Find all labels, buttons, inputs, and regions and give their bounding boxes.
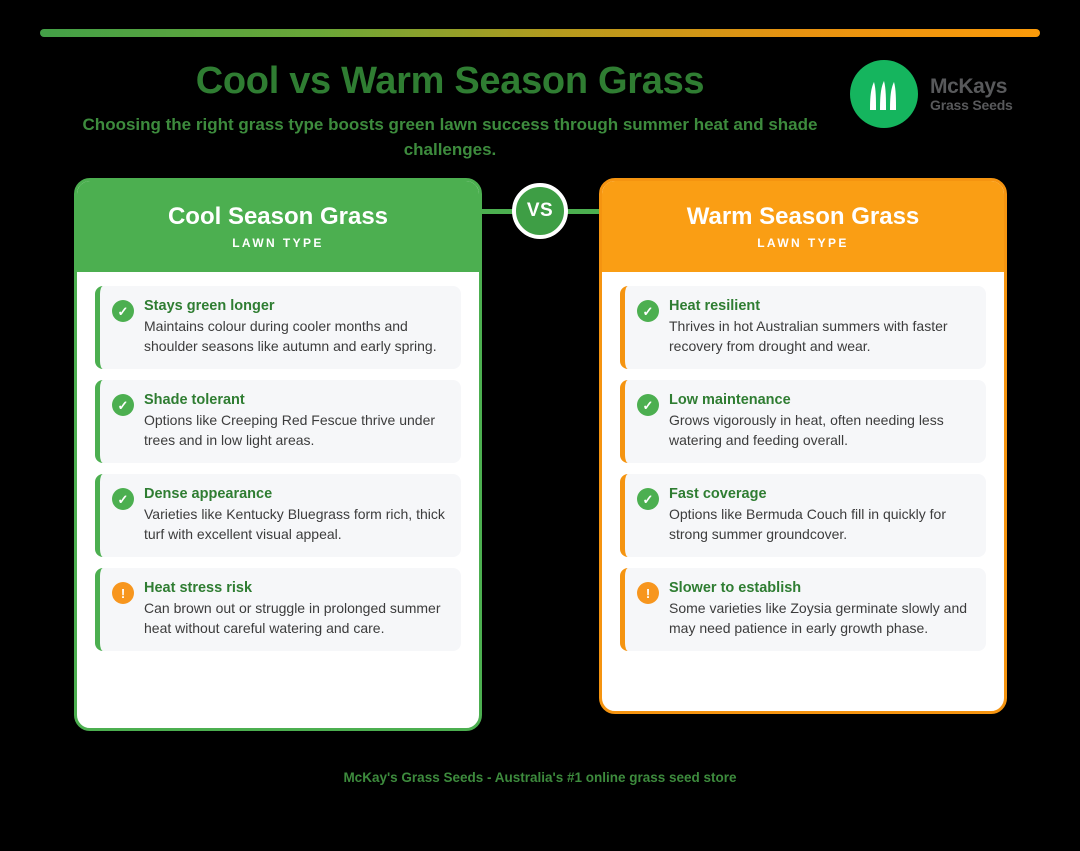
list-item-description: Grows vigorously in heat, often needing … xyxy=(669,410,972,450)
check-icon: ✓ xyxy=(637,488,659,510)
check-icon: ✓ xyxy=(112,300,134,322)
list-item-description: Varieties like Kentucky Bluegrass form r… xyxy=(144,504,447,544)
list-item-text: Low maintenance Grows vigorously in heat… xyxy=(669,392,972,450)
brand-logo: McKays Grass Seeds xyxy=(850,60,1013,128)
list-item: ✓ Fast coverage Options like Bermuda Cou… xyxy=(620,474,986,557)
check-icon: ✓ xyxy=(637,394,659,416)
list-item-description: Can brown out or struggle in prolonged s… xyxy=(144,598,447,638)
check-icon: ✓ xyxy=(112,394,134,416)
infographic-root: Cool vs Warm Season Grass Choosing the r… xyxy=(0,0,1080,851)
list-item-title: Dense appearance xyxy=(144,486,447,502)
list-item-description: Options like Bermuda Couch fill in quick… xyxy=(669,504,972,544)
list-item-text: Stays green longer Maintains colour duri… xyxy=(144,298,447,356)
column-title: Warm Season Grass xyxy=(602,201,1004,233)
list-item: ! Heat stress risk Can brown out or stru… xyxy=(95,568,461,651)
column-cool-season: Cool Season Grass LAWN TYPE ✓ Stays gree… xyxy=(74,178,482,731)
list-item-text: Dense appearance Varieties like Kentucky… xyxy=(144,486,447,544)
list-item-title: Heat resilient xyxy=(669,298,972,314)
list-item-title: Heat stress risk xyxy=(144,580,447,596)
list-item-text: Shade tolerant Options like Creeping Red… xyxy=(144,392,447,450)
footer-text: McKay's Grass Seeds - Australia's #1 onl… xyxy=(0,770,1080,785)
list-item-description: Maintains colour during cooler months an… xyxy=(144,316,447,356)
grass-blades-icon xyxy=(850,60,918,128)
list-item: ✓ Stays green longer Maintains colour du… xyxy=(95,286,461,369)
page-subtitle: Choosing the right grass type boosts gre… xyxy=(60,112,840,162)
list-item-description: Some varieties like Zoysia germinate slo… xyxy=(669,598,972,638)
brand-name: McKays xyxy=(930,76,1013,98)
vs-badge: VS xyxy=(512,183,568,239)
list-item-text: Heat resilient Thrives in hot Australian… xyxy=(669,298,972,356)
list-item-text: Heat stress risk Can brown out or strugg… xyxy=(144,580,447,638)
top-accent-bar xyxy=(40,29,1040,37)
list-item-title: Shade tolerant xyxy=(144,392,447,408)
list-item: ✓ Dense appearance Varieties like Kentuc… xyxy=(95,474,461,557)
column-warm-season: Warm Season Grass LAWN TYPE ✓ Heat resil… xyxy=(599,178,1007,714)
page-title: Cool vs Warm Season Grass xyxy=(40,60,860,103)
column-header-cool: Cool Season Grass LAWN TYPE xyxy=(77,181,479,272)
column-subtitle: LAWN TYPE xyxy=(602,236,1004,250)
check-icon: ✓ xyxy=(637,300,659,322)
list-item-title: Fast coverage xyxy=(669,486,972,502)
warning-icon: ! xyxy=(637,582,659,604)
list-item: ✓ Heat resilient Thrives in hot Australi… xyxy=(620,286,986,369)
list-item-title: Low maintenance xyxy=(669,392,972,408)
brand-tagline: Grass Seeds xyxy=(930,98,1013,113)
header: Cool vs Warm Season Grass Choosing the r… xyxy=(0,50,1080,170)
list-item-text: Fast coverage Options like Bermuda Couch… xyxy=(669,486,972,544)
list-item: ! Slower to establish Some varieties lik… xyxy=(620,568,986,651)
column-subtitle: LAWN TYPE xyxy=(77,236,479,250)
check-icon: ✓ xyxy=(112,488,134,510)
list-item-description: Options like Creeping Red Fescue thrive … xyxy=(144,410,447,450)
column-body-warm: ✓ Heat resilient Thrives in hot Australi… xyxy=(602,272,1004,667)
column-title: Cool Season Grass xyxy=(77,201,479,233)
list-item-title: Slower to establish xyxy=(669,580,972,596)
list-item-description: Thrives in hot Australian summers with f… xyxy=(669,316,972,356)
column-header-warm: Warm Season Grass LAWN TYPE xyxy=(602,181,1004,272)
list-item: ✓ Low maintenance Grows vigorously in he… xyxy=(620,380,986,463)
brand-text: McKays Grass Seeds xyxy=(930,76,1013,113)
list-item-text: Slower to establish Some varieties like … xyxy=(669,580,972,638)
list-item-title: Stays green longer xyxy=(144,298,447,314)
list-item: ✓ Shade tolerant Options like Creeping R… xyxy=(95,380,461,463)
column-body-cool: ✓ Stays green longer Maintains colour du… xyxy=(77,272,479,667)
warning-icon: ! xyxy=(112,582,134,604)
